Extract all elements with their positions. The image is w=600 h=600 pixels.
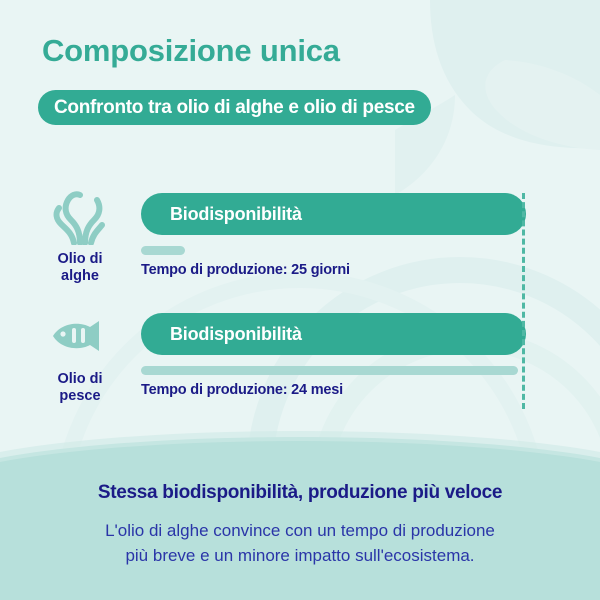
reference-dashed-line (522, 193, 525, 409)
row-bars-fish: Biodisponibilità Tempo di produzione: 24… (141, 313, 526, 398)
footer-panel: Stessa biodisponibilità, produzione più … (0, 420, 600, 600)
seaweed-icon-svg (50, 187, 110, 245)
row-icon-column-fish: Olio di pesce (30, 305, 130, 405)
production-track-fish (141, 366, 526, 375)
production-label-fish: Tempo di produzione: 24 mesi (141, 382, 526, 398)
production-bar-algae (141, 246, 185, 255)
bioavailability-bar-label-fish: Biodisponibilità (170, 324, 302, 345)
fish-icon-svg (49, 319, 111, 353)
row-icon-column-algae: Olio di alghe (30, 185, 130, 285)
production-bar-fish (141, 366, 518, 375)
infographic-canvas: Composizione unica Confronto tra olio di… (0, 0, 600, 600)
production-track-algae (141, 246, 526, 255)
footer-headline: Stessa biodisponibilità, produzione più … (0, 482, 600, 504)
row-label-algae: Olio di alghe (57, 251, 102, 285)
bioavailability-bar-label-algae: Biodisponibilità (170, 204, 302, 225)
bioavailability-bar-algae: Biodisponibilità (141, 193, 526, 235)
row-bars-algae: Biodisponibilità Tempo di produzione: 25… (141, 193, 526, 278)
fish-icon (49, 305, 111, 367)
seaweed-icon (50, 185, 110, 247)
bioavailability-bar-fish: Biodisponibilità (141, 313, 526, 355)
footer-body: L'olio di alghe convince con un tempo di… (0, 518, 600, 568)
row-label-fish: Olio di pesce (57, 371, 102, 405)
production-label-algae: Tempo di produzione: 25 giorni (141, 262, 526, 278)
